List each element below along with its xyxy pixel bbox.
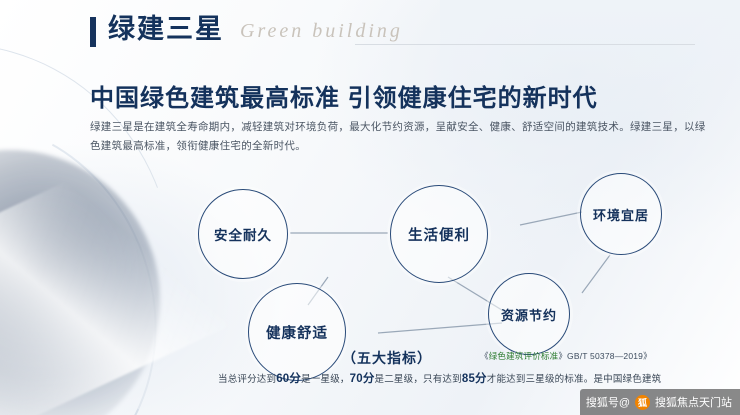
headline: 中国绿色建筑最高标准 引领健康住宅的新时代 bbox=[90, 78, 598, 113]
five-indicator-diagram: 安全耐久 生活便利 环境宜居 健康舒适 资源节约 （五大指标） 《绿色建筑评价标… bbox=[90, 165, 720, 375]
node-label: 生活便利 bbox=[408, 224, 470, 245]
watermark-prefix: 搜狐号@ bbox=[586, 394, 630, 410]
footnote-score3: 85分 bbox=[462, 373, 487, 385]
node-living-convenience[interactable]: 生活便利 bbox=[390, 185, 488, 283]
watermark-text: 搜狐焦点天门站 bbox=[655, 394, 732, 410]
slide-canvas: 绿建三星 Green building 中国绿色建筑最高标准 引领健康住宅的新时… bbox=[0, 0, 740, 415]
scoring-footnote: 当总评分达到60分是一星级，70分是二星级，只有达到85分才能达到三星级的标准。… bbox=[218, 370, 661, 386]
node-resource-saving[interactable]: 资源节约 bbox=[488, 273, 570, 355]
node-health-comfort[interactable]: 健康舒适 bbox=[248, 283, 346, 381]
node-label: 环境宜居 bbox=[593, 205, 649, 224]
footnote-part3: 是二星级，只有达到 bbox=[375, 374, 462, 385]
diagram-caption: （五大指标） bbox=[342, 348, 432, 368]
node-label: 安全耐久 bbox=[214, 224, 272, 244]
node-label: 健康舒适 bbox=[266, 322, 328, 343]
header: 绿建三星 bbox=[90, 14, 224, 47]
standard-reference: 《绿色建筑评价标准》GB/T 50378—2019》 bbox=[480, 350, 652, 362]
standard-prefix: 《 bbox=[480, 351, 489, 361]
page-title: 绿建三星 bbox=[108, 14, 224, 44]
footnote-part2: 是一星级， bbox=[301, 374, 350, 385]
watermark-bar: 搜狐号@ 狐 搜狐焦点天门站 bbox=[580, 389, 740, 415]
footnote-part1: 当总评分达到 bbox=[218, 374, 276, 385]
node-label: 资源节约 bbox=[501, 305, 557, 324]
sohu-icon: 狐 bbox=[635, 395, 650, 410]
header-divider bbox=[355, 44, 695, 45]
standard-title: 绿色建筑评价标准 bbox=[489, 351, 559, 361]
header-subtitle: Green building bbox=[240, 20, 403, 43]
footnote-part4: 才能达到三星级的标准。是中国绿色建筑 bbox=[487, 374, 662, 385]
node-safety-durability[interactable]: 安全耐久 bbox=[198, 189, 288, 279]
description-text: 绿建三星是在建筑全寿命期内，减轻建筑对环境负荷，最大化节约资源，呈献安全、健康、… bbox=[90, 118, 710, 156]
standard-suffix: 》GB/T 50378—2019》 bbox=[558, 351, 652, 361]
footnote-score1: 60分 bbox=[276, 373, 301, 385]
footnote-score2: 70分 bbox=[350, 373, 375, 385]
header-accent-bar bbox=[90, 17, 96, 47]
node-environment-livability[interactable]: 环境宜居 bbox=[580, 173, 662, 255]
